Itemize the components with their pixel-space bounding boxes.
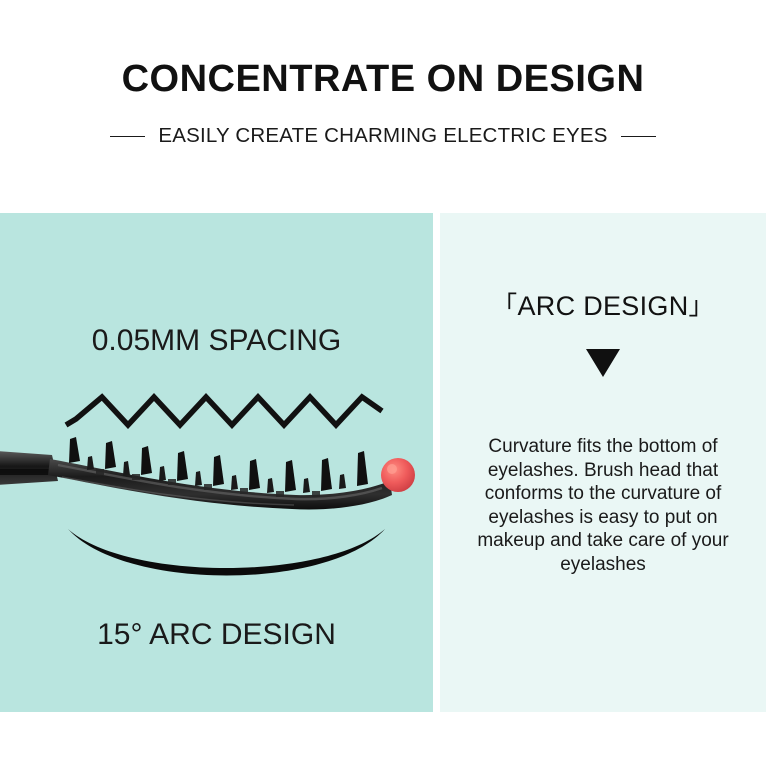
page-title: CONCENTRATE ON DESIGN — [0, 58, 766, 101]
product-feature-banner: CONCENTRATE ON DESIGN EASILY CREATE CHAR… — [0, 0, 766, 766]
arc-design-description: Curvature fits the bottom of eyelashes. … — [460, 435, 746, 576]
right-feature-panel: 「ARC DESIGN」 Curvature fits the bottom o… — [440, 213, 766, 712]
mascara-brush-head-image — [0, 425, 433, 540]
triangle-down-glyph — [586, 349, 620, 377]
bracket-close-icon: 」 — [689, 291, 714, 320]
zigzag-line-icon — [64, 381, 384, 429]
subtitle-row: EASILY CREATE CHARMING ELECTRIC EYES — [0, 124, 766, 148]
arc-design-degree-label: 15° ARC DESIGN — [0, 618, 433, 652]
bracket-open-icon: 「 — [492, 291, 517, 320]
dash-rule-left-icon — [110, 136, 145, 137]
brush-tip — [381, 458, 415, 492]
banner-header: CONCENTRATE ON DESIGN EASILY CREATE CHAR… — [0, 0, 766, 213]
page-subtitle: EASILY CREATE CHARMING ELECTRIC EYES — [158, 124, 607, 148]
arc-curve-line-icon — [64, 525, 389, 595]
panels-container: 0.05MM SPACING — [0, 213, 766, 712]
dash-rule-right-icon — [621, 136, 656, 137]
triangle-down-icon — [440, 349, 766, 377]
left-feature-panel: 0.05MM SPACING — [0, 213, 433, 712]
arc-design-heading: 「ARC DESIGN」 — [440, 286, 766, 322]
arc-design-heading-text: ARC DESIGN — [517, 291, 688, 321]
spacing-label: 0.05MM SPACING — [0, 324, 433, 358]
